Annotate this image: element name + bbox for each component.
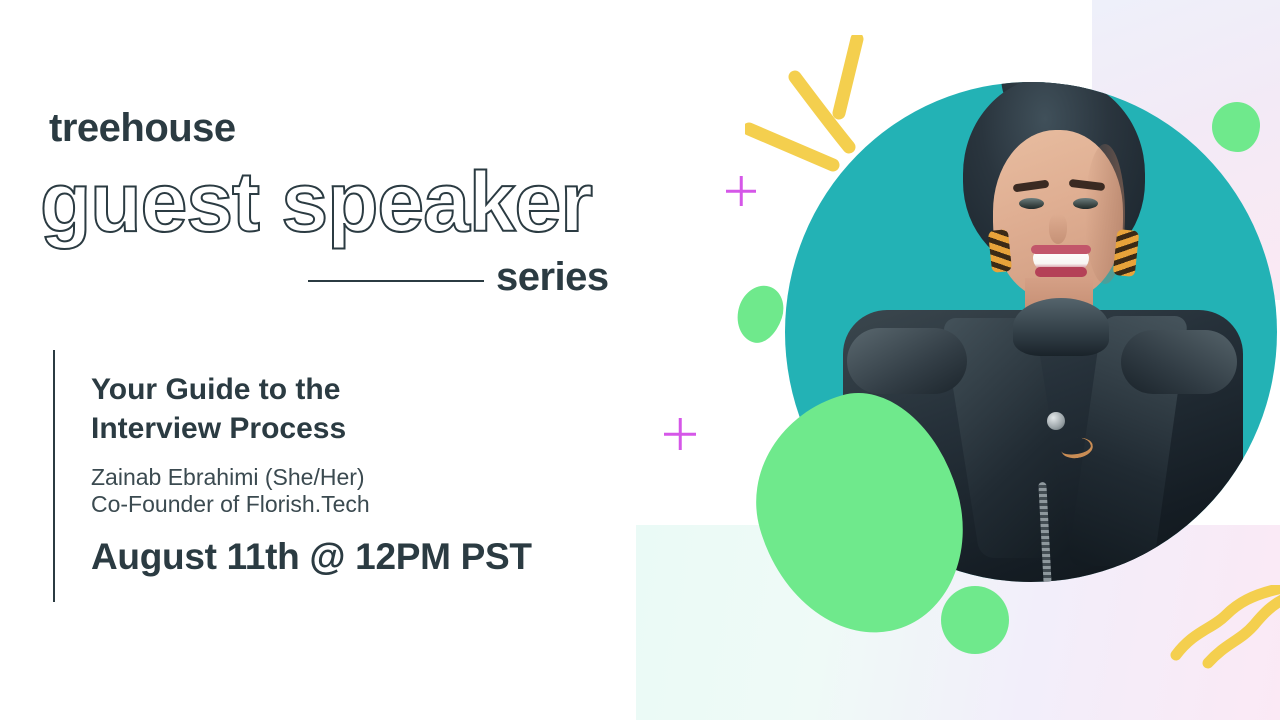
eye-left [1019, 198, 1044, 209]
green-blob-topright [1212, 102, 1260, 152]
eye-right [1073, 198, 1098, 209]
talk-title: Your Guide to the Interview Process [91, 370, 561, 448]
plus-mark-icon [726, 176, 756, 206]
jacket-collar [1013, 298, 1109, 356]
lower-lip [1035, 267, 1087, 277]
talk-title-line-1: Your Guide to the [91, 370, 561, 409]
earring-right [1113, 229, 1140, 277]
series-divider-rule [308, 280, 484, 282]
vertical-accent-rule [53, 350, 55, 602]
yellow-squiggles-icon [1160, 585, 1280, 703]
earring-left [988, 229, 1012, 273]
speaker-role: Co-Founder of Florish.Tech [91, 489, 370, 520]
plus-mark-icon [664, 418, 696, 450]
jacket-shoulder-left [847, 328, 967, 394]
event-datetime: August 11th @ 12PM PST [91, 535, 532, 579]
upper-lip [1031, 245, 1091, 254]
yellow-rays-icon [745, 35, 885, 180]
talk-title-line-2: Interview Process [91, 409, 561, 448]
series-label: series [496, 255, 609, 299]
brand-wordmark: treehouse [49, 108, 236, 148]
green-blob-small [730, 280, 790, 349]
nose [1049, 214, 1067, 244]
promo-banner: treehouse guest speaker series Your Guid… [0, 0, 1280, 720]
jacket-snap-button [1047, 412, 1065, 430]
jacket-shoulder-right [1121, 330, 1237, 394]
headline-outline-text: guest speaker [40, 160, 592, 244]
series-row: series [308, 255, 628, 305]
green-circle-bottom [941, 586, 1009, 654]
